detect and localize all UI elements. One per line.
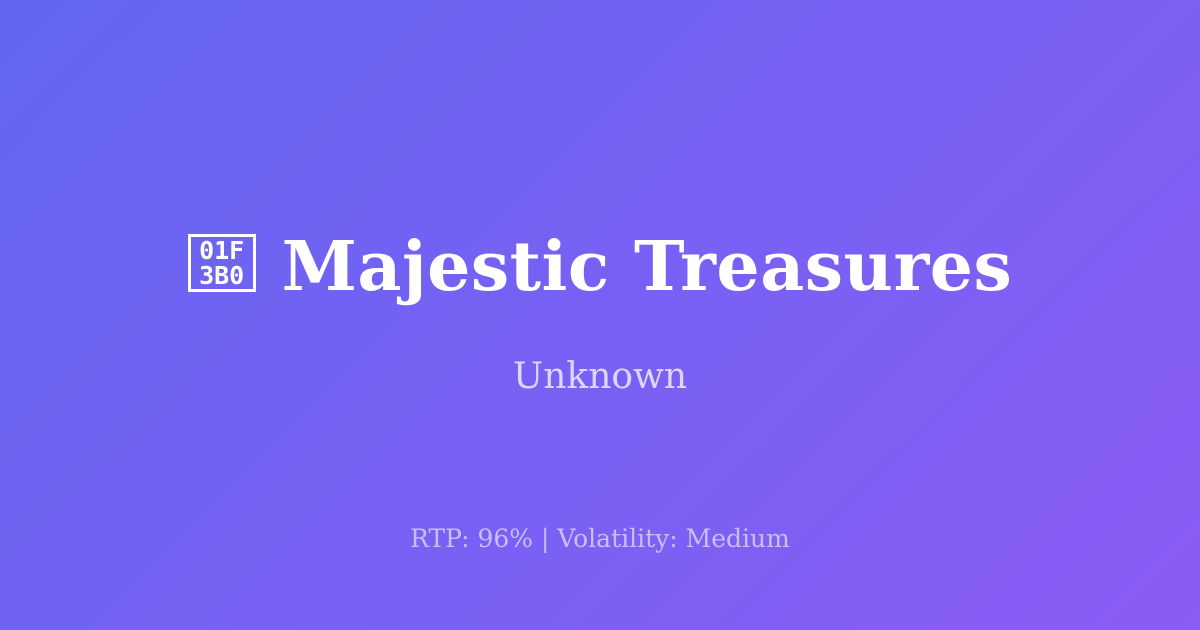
slot-machine-icon: 01F 3B0 — [188, 234, 256, 292]
game-meta-text: RTP: 96% | Volatility: Medium — [410, 524, 790, 554]
tofu-codepoint-bottom: 3B0 — [199, 263, 244, 288]
og-card: 01F 3B0 Majestic Treasures Unknown RTP: … — [0, 0, 1200, 630]
footer: RTP: 96% | Volatility: Medium — [0, 524, 1200, 554]
page-title: Majestic Treasures — [282, 231, 1013, 303]
tofu-codepoint-top: 01F — [199, 238, 244, 263]
page-subtitle: Unknown — [513, 355, 687, 398]
title-row: 01F 3B0 Majestic Treasures — [0, 231, 1200, 303]
